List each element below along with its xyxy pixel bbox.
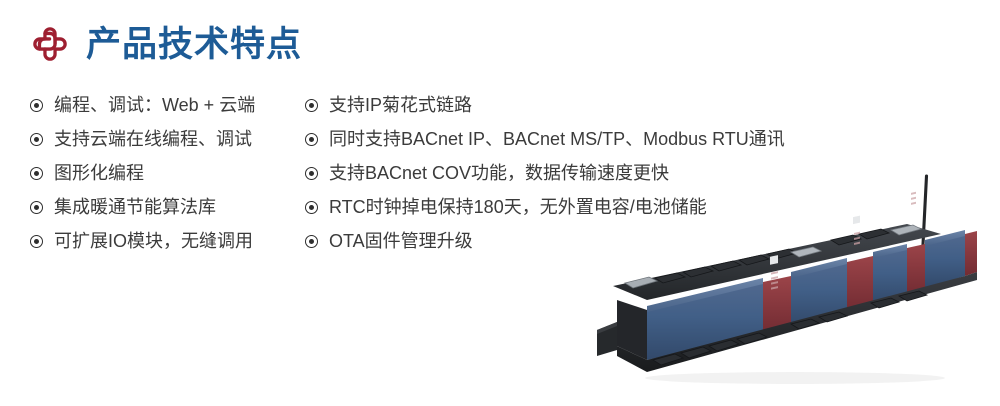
- circled-dot-bullet-icon: [305, 235, 318, 248]
- circled-dot-bullet-icon: [30, 201, 43, 214]
- feature-column-left: 编程、调试：Web + 云端 支持云端在线编程、调试 图形化编程 集成暖通节能算…: [30, 88, 305, 258]
- page-title: 产品技术特点: [86, 27, 302, 62]
- feature-item: 编程、调试：Web + 云端: [30, 88, 305, 122]
- feature-item: OTA固件管理升级: [305, 224, 945, 258]
- feature-item: 支持IP菊花式链路: [305, 88, 945, 122]
- circled-dot-bullet-icon: [305, 167, 318, 180]
- feature-item-label: 支持云端在线编程、调试: [54, 129, 252, 149]
- circled-dot-bullet-icon: [30, 235, 43, 248]
- feature-item-label: RTC时钟掉电保持180天，无外置电容/电池储能: [329, 197, 707, 217]
- feature-item-label: 图形化编程: [54, 163, 144, 183]
- feature-list-container: 编程、调试：Web + 云端 支持云端在线编程、调试 图形化编程 集成暖通节能算…: [30, 88, 945, 258]
- page-header: 产品技术特点: [28, 22, 302, 66]
- feature-item: 支持BACnet COV功能，数据传输速度更快: [305, 156, 945, 190]
- feature-item-label: 支持BACnet COV功能，数据传输速度更快: [329, 163, 669, 183]
- circled-dot-bullet-icon: [305, 201, 318, 214]
- circled-dot-bullet-icon: [305, 133, 318, 146]
- feature-item-label: OTA固件管理升级: [329, 231, 473, 251]
- feature-column-right: 支持IP菊花式链路 同时支持BACnet IP、BACnet MS/TP、Mod…: [305, 88, 945, 258]
- feature-item-label: 同时支持BACnet IP、BACnet MS/TP、Modbus RTU通讯: [329, 129, 785, 149]
- feature-item-label: 集成暖通节能算法库: [54, 197, 216, 217]
- feature-item: 可扩展IO模块，无缝调用: [30, 224, 305, 258]
- feature-item-label: 可扩展IO模块，无缝调用: [54, 231, 253, 251]
- feature-item: 支持云端在线编程、调试: [30, 122, 305, 156]
- circled-dot-bullet-icon: [305, 99, 318, 112]
- slide-canvas: 产品技术特点 编程、调试：Web + 云端 支持云端在线编程、调试 图形化编程 …: [0, 0, 1000, 406]
- circled-dot-bullet-icon: [30, 133, 43, 146]
- feature-item: 集成暖通节能算法库: [30, 190, 305, 224]
- feature-item: RTC时钟掉电保持180天，无外置电容/电池储能: [305, 190, 945, 224]
- circled-dot-bullet-icon: [30, 99, 43, 112]
- accent-panel: [763, 276, 791, 332]
- feature-item-label: 支持IP菊花式链路: [329, 95, 472, 115]
- feature-item-label: 编程、调试：Web + 云端: [54, 95, 255, 115]
- clover-cross-logo-icon: [28, 22, 72, 66]
- circled-dot-bullet-icon: [30, 167, 43, 180]
- feature-item: 同时支持BACnet IP、BACnet MS/TP、Modbus RTU通讯: [305, 122, 945, 156]
- feature-item: 图形化编程: [30, 156, 305, 190]
- accent-panel: [847, 256, 873, 310]
